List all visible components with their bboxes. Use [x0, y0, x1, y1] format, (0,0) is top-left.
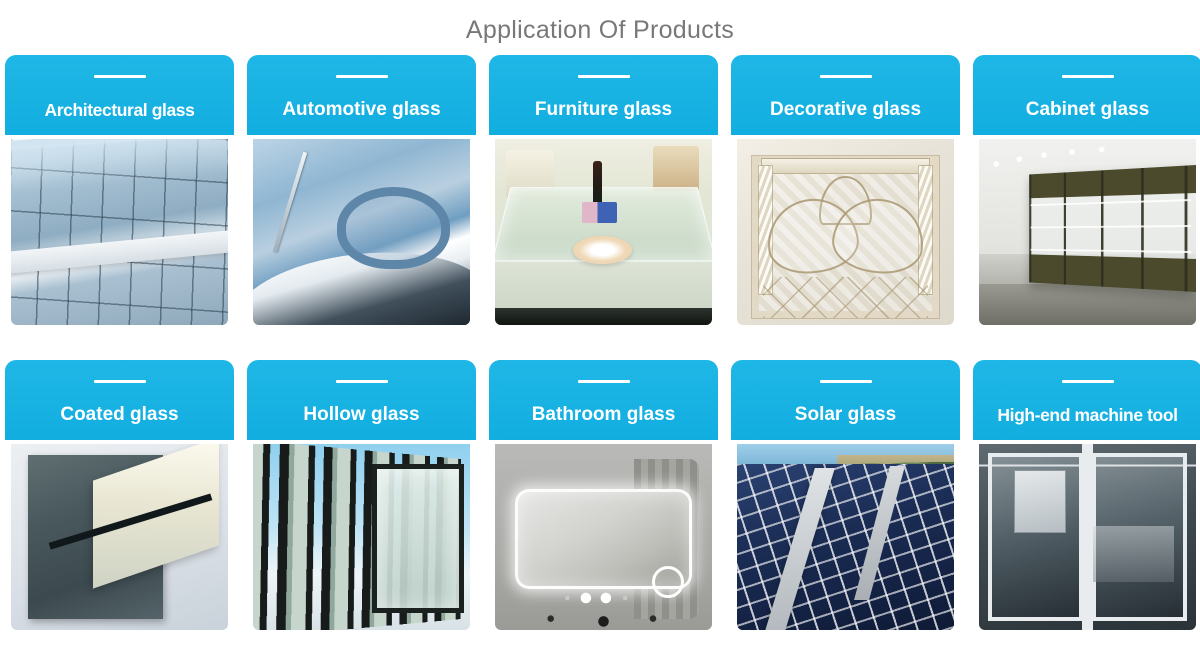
card-media-coated-glass — [5, 440, 234, 638]
product-card-hollow-glass[interactable]: Hollow glass — [247, 360, 476, 638]
photo-detail-bath-touch — [560, 592, 634, 604]
header-divider-icon — [578, 380, 630, 383]
card-header-decorative-glass: Decorative glass — [731, 55, 960, 135]
card-header-furniture-glass: Furniture glass — [489, 55, 718, 135]
card-title-furniture-glass: Furniture glass — [535, 99, 672, 121]
card-title-cabinet-glass: Cabinet glass — [1026, 99, 1150, 121]
product-card-cabinet-glass[interactable]: Cabinet glass — [973, 55, 1200, 333]
card-media-architectural-glass — [5, 135, 234, 333]
card-title-coated-glass: Coated glass — [60, 404, 178, 426]
card-media-solar-glass — [731, 440, 960, 638]
product-card-furniture-glass[interactable]: Furniture glass — [489, 55, 718, 333]
card-media-bathroom-glass — [489, 440, 718, 638]
card-media-hollow-glass — [247, 440, 476, 638]
header-divider-icon — [336, 380, 388, 383]
card-header-automotive-glass: Automotive glass — [247, 55, 476, 135]
product-card-architectural-glass[interactable]: Architectural glass — [5, 55, 234, 333]
photo-detail-hol-face — [372, 464, 463, 613]
photo-detail-dec-band — [761, 158, 930, 175]
photo-detail-dec-lat — [763, 277, 928, 318]
photo-detail-fur-cups — [582, 202, 617, 222]
card-header-cabinet-glass: Cabinet glass — [973, 55, 1200, 135]
card-header-hollow-glass: Hollow glass — [247, 360, 476, 440]
card-header-coated-glass: Coated glass — [5, 360, 234, 440]
product-card-bathroom-glass[interactable]: Bathroom glass — [489, 360, 718, 638]
card-media-high-end-machine-tool — [973, 440, 1200, 638]
card-photo-decorative-glass — [737, 139, 954, 325]
photo-detail-bath-knob — [652, 566, 684, 598]
card-header-high-end-machine-tool: High-end machine tool — [973, 360, 1200, 440]
photo-detail-fur-plate — [573, 236, 632, 264]
card-photo-hollow-glass — [253, 444, 470, 630]
card-photo-bathroom-glass — [495, 444, 712, 630]
photo-detail-bath-legs — [521, 611, 686, 630]
photo-detail-sol-array — [737, 464, 954, 630]
header-divider-icon — [1062, 75, 1114, 78]
card-media-cabinet-glass — [973, 135, 1200, 333]
photo-detail-fur-chairR — [653, 146, 699, 191]
card-title-hollow-glass: Hollow glass — [303, 404, 419, 426]
photo-detail-auto-hood — [253, 241, 470, 325]
photo-detail-cab-floor — [979, 284, 1196, 325]
card-header-bathroom-glass: Bathroom glass — [489, 360, 718, 440]
photo-detail-mac-frame — [979, 444, 1196, 630]
card-photo-high-end-machine-tool — [979, 444, 1196, 630]
header-divider-icon — [578, 75, 630, 78]
card-photo-solar-glass — [737, 444, 954, 630]
card-photo-automotive-glass — [253, 139, 470, 325]
card-media-automotive-glass — [247, 135, 476, 333]
header-divider-icon — [1062, 380, 1114, 383]
card-photo-coated-glass — [11, 444, 228, 630]
card-title-decorative-glass: Decorative glass — [770, 99, 921, 121]
card-header-architectural-glass: Architectural glass — [5, 55, 234, 135]
page-title: Application Of Products — [0, 0, 1200, 55]
card-photo-furniture-glass — [495, 139, 712, 325]
card-title-high-end-machine-tool: High-end machine tool — [997, 404, 1177, 426]
product-card-coated-glass[interactable]: Coated glass — [5, 360, 234, 638]
card-title-bathroom-glass: Bathroom glass — [532, 404, 676, 426]
card-header-solar-glass: Solar glass — [731, 360, 960, 440]
card-media-furniture-glass — [489, 135, 718, 333]
header-divider-icon — [820, 380, 872, 383]
card-title-architectural-glass: Architectural glass — [45, 99, 195, 121]
header-divider-icon — [820, 75, 872, 78]
product-card-solar-glass[interactable]: Solar glass — [731, 360, 960, 638]
card-media-decorative-glass — [731, 135, 960, 333]
product-card-decorative-glass[interactable]: Decorative glass — [731, 55, 960, 333]
product-card-high-end-machine-tool[interactable]: High-end machine tool — [973, 360, 1200, 638]
card-photo-architectural-glass — [11, 139, 228, 325]
photo-detail-cab-shelves — [1031, 199, 1192, 273]
product-card-automotive-glass[interactable]: Automotive glass — [247, 55, 476, 333]
photo-detail-fur-base — [495, 308, 712, 325]
card-title-solar-glass: Solar glass — [795, 404, 896, 426]
header-divider-icon — [336, 75, 388, 78]
header-divider-icon — [94, 75, 146, 78]
product-application-grid: Architectural glassAutomotive glassFurni… — [0, 55, 1200, 638]
card-photo-cabinet-glass — [979, 139, 1196, 325]
header-divider-icon — [94, 380, 146, 383]
card-title-automotive-glass: Automotive glass — [282, 99, 440, 121]
